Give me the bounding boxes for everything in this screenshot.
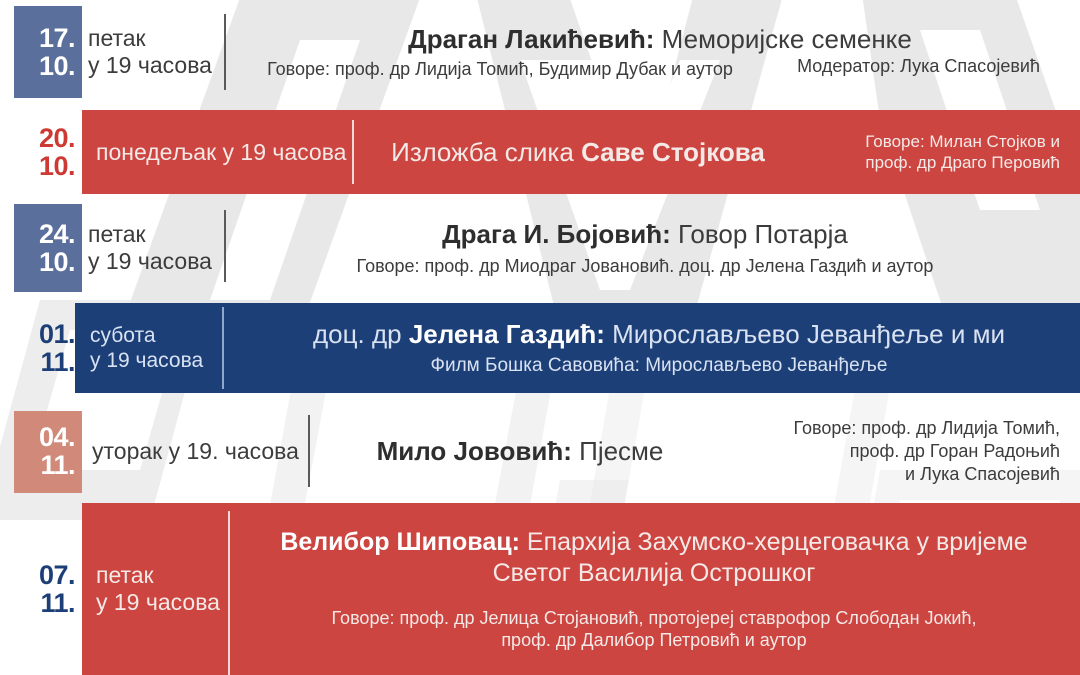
divider-6 <box>228 511 230 675</box>
time-3: у 19 часова <box>88 248 208 275</box>
time-1: у 19 часова <box>88 52 208 79</box>
date-month-2: 10. <box>39 153 75 179</box>
date-day-2: 20. <box>39 125 75 151</box>
event-row-6: 07. 11. петак у 19 часова Велибор Шипова… <box>0 503 1080 675</box>
prefix-4: доц. др <box>313 319 409 349</box>
event-row-4: 01. 11. субота у 19 часова доц. др Јелен… <box>0 303 1080 393</box>
weekday-6: петак <box>96 562 236 589</box>
title-6-line1: Велибор Шиповац: Епархија Захумско-херце… <box>280 527 1027 557</box>
date-5: 04. 11. <box>0 405 82 497</box>
speakers-5: Говоре: проф. др Лидија Томић, проф. др … <box>720 405 1060 497</box>
weekday-1: петак <box>88 25 208 52</box>
work-4: Мирослављево Јеванђеље и ми <box>605 319 1005 349</box>
speakers-2: Говоре: Милан Стојков и проф. др Драго П… <box>790 110 1060 194</box>
speakers-6-line2: проф. др Далибор Петровић и аутор <box>501 629 806 651</box>
author-4: Јелена Газдић: <box>409 319 605 349</box>
when-4: субота у 19 часова <box>90 303 220 393</box>
weekday-time-2: понедељак у 19 часова <box>96 139 346 166</box>
when-1: петак у 19 часова <box>88 0 208 104</box>
date-2: 20. 10. <box>0 110 82 194</box>
speakers-6-line1: Говоре: проф. др Јелица Стојановић, прот… <box>332 607 977 629</box>
when-6: петак у 19 часова <box>96 503 236 675</box>
main-1: Драган Лакићевић: Меморијске семенке Гов… <box>240 0 1080 104</box>
work-6-line2: Светог Василија Острошког <box>493 557 816 589</box>
divider-5 <box>308 415 310 487</box>
author-5: Мило Јововић: <box>377 436 572 466</box>
divider-2 <box>352 120 354 184</box>
date-day-6: 07. <box>39 562 75 588</box>
when-2: понедељак у 19 часова <box>96 110 346 194</box>
event-row-5: 04. 11. уторак у 19. часова Мило Јововић… <box>0 405 1080 497</box>
date-day-1: 17. <box>39 25 75 51</box>
date-month-1: 10. <box>39 53 75 79</box>
time-4: у 19 часова <box>90 348 220 373</box>
author-6: Велибор Шиповац: <box>280 528 520 556</box>
speakers-5-line1: Говоре: проф. др Лидија Томић, <box>793 417 1060 440</box>
author-2: Саве Стојкова <box>581 137 765 167</box>
speakers-2-line1: Говоре: Милан Стојков и <box>865 131 1060 152</box>
title-5: Мило Јововић: Пјесме <box>377 436 664 466</box>
main-2: Изложба слика Саве Стојкова <box>368 110 788 194</box>
moderator-1: Модератор: Лука Спасојевић <box>797 56 1040 77</box>
date-month-3: 10. <box>39 249 75 275</box>
main-5: Мило Јововић: Пјесме <box>330 405 710 497</box>
date-day-4: 01. <box>39 321 75 347</box>
time-6: у 19 часова <box>96 589 236 616</box>
when-3: петак у 19 часова <box>88 200 208 296</box>
speakers-1: Говоре: проф. др Лидија Томић, Будимир Д… <box>267 58 733 80</box>
weekday-4: субота <box>90 323 220 348</box>
event-row-2: 20. 10. понедељак у 19 часова Изложба сл… <box>0 110 1080 194</box>
title-1: Драган Лакићевић: Меморијске семенке <box>408 24 912 54</box>
divider-1 <box>224 14 226 90</box>
main-3: Драга И. Бојовић: Говор Потарја Говоре: … <box>240 200 1050 296</box>
speakers-2-line2: проф. др Драго Перовић <box>865 152 1060 173</box>
work-1: Меморијске семенке <box>654 24 911 54</box>
title-3: Драга И. Бојовић: Говор Потарја <box>442 219 848 249</box>
title-2: Изложба слика Саве Стојкова <box>391 137 765 167</box>
weekday-3: петак <box>88 221 208 248</box>
event-row-3: 24. 10. петак у 19 часова Драга И. Бојов… <box>0 200 1080 296</box>
main-4: доц. др Јелена Газдић: Мирослављево Јева… <box>238 303 1080 393</box>
main-6: Велибор Шиповац: Епархија Захумско-херце… <box>244 503 1064 675</box>
work-6-line1: Епархија Захумско-херцеговачка у вријеме <box>520 528 1028 556</box>
weekday-time-5: уторак у 19. часова <box>92 438 312 465</box>
author-1: Драган Лакићевић: <box>408 24 654 54</box>
date-4: 01. 11. <box>0 303 82 393</box>
speakers-3: Говоре: проф. др Миодраг Јовановић. доц.… <box>357 255 934 277</box>
date-month-4: 11. <box>40 349 75 375</box>
date-month-5: 11. <box>40 452 75 478</box>
speakers-5-line2: проф. др Горан Радоњић <box>850 440 1060 463</box>
work-prefix-2: Изложба слика <box>391 137 581 167</box>
work-5: Пјесме <box>572 436 663 466</box>
date-1: 17. 10. <box>0 0 82 104</box>
divider-3 <box>224 210 226 282</box>
subtitle-4: Филм Бошка Савовића: Мирослављево Јеванђ… <box>431 355 888 377</box>
date-day-3: 24. <box>39 221 75 247</box>
date-day-5: 04. <box>39 424 75 450</box>
divider-4 <box>222 307 224 389</box>
date-month-6: 11. <box>40 590 75 616</box>
speakers-5-line3: и Лука Спасојевић <box>905 463 1060 486</box>
when-5: уторак у 19. часова <box>92 405 312 497</box>
author-3: Драга И. Бојовић: <box>442 219 671 249</box>
event-row-1: 17. 10. петак у 19 часова Драган Лакићев… <box>0 0 1080 104</box>
date-6: 07. 11. <box>0 503 82 675</box>
date-3: 24. 10. <box>0 200 82 296</box>
work-3: Говор Потарја <box>671 219 848 249</box>
title-4: доц. др Јелена Газдић: Мирослављево Јева… <box>313 319 1005 349</box>
